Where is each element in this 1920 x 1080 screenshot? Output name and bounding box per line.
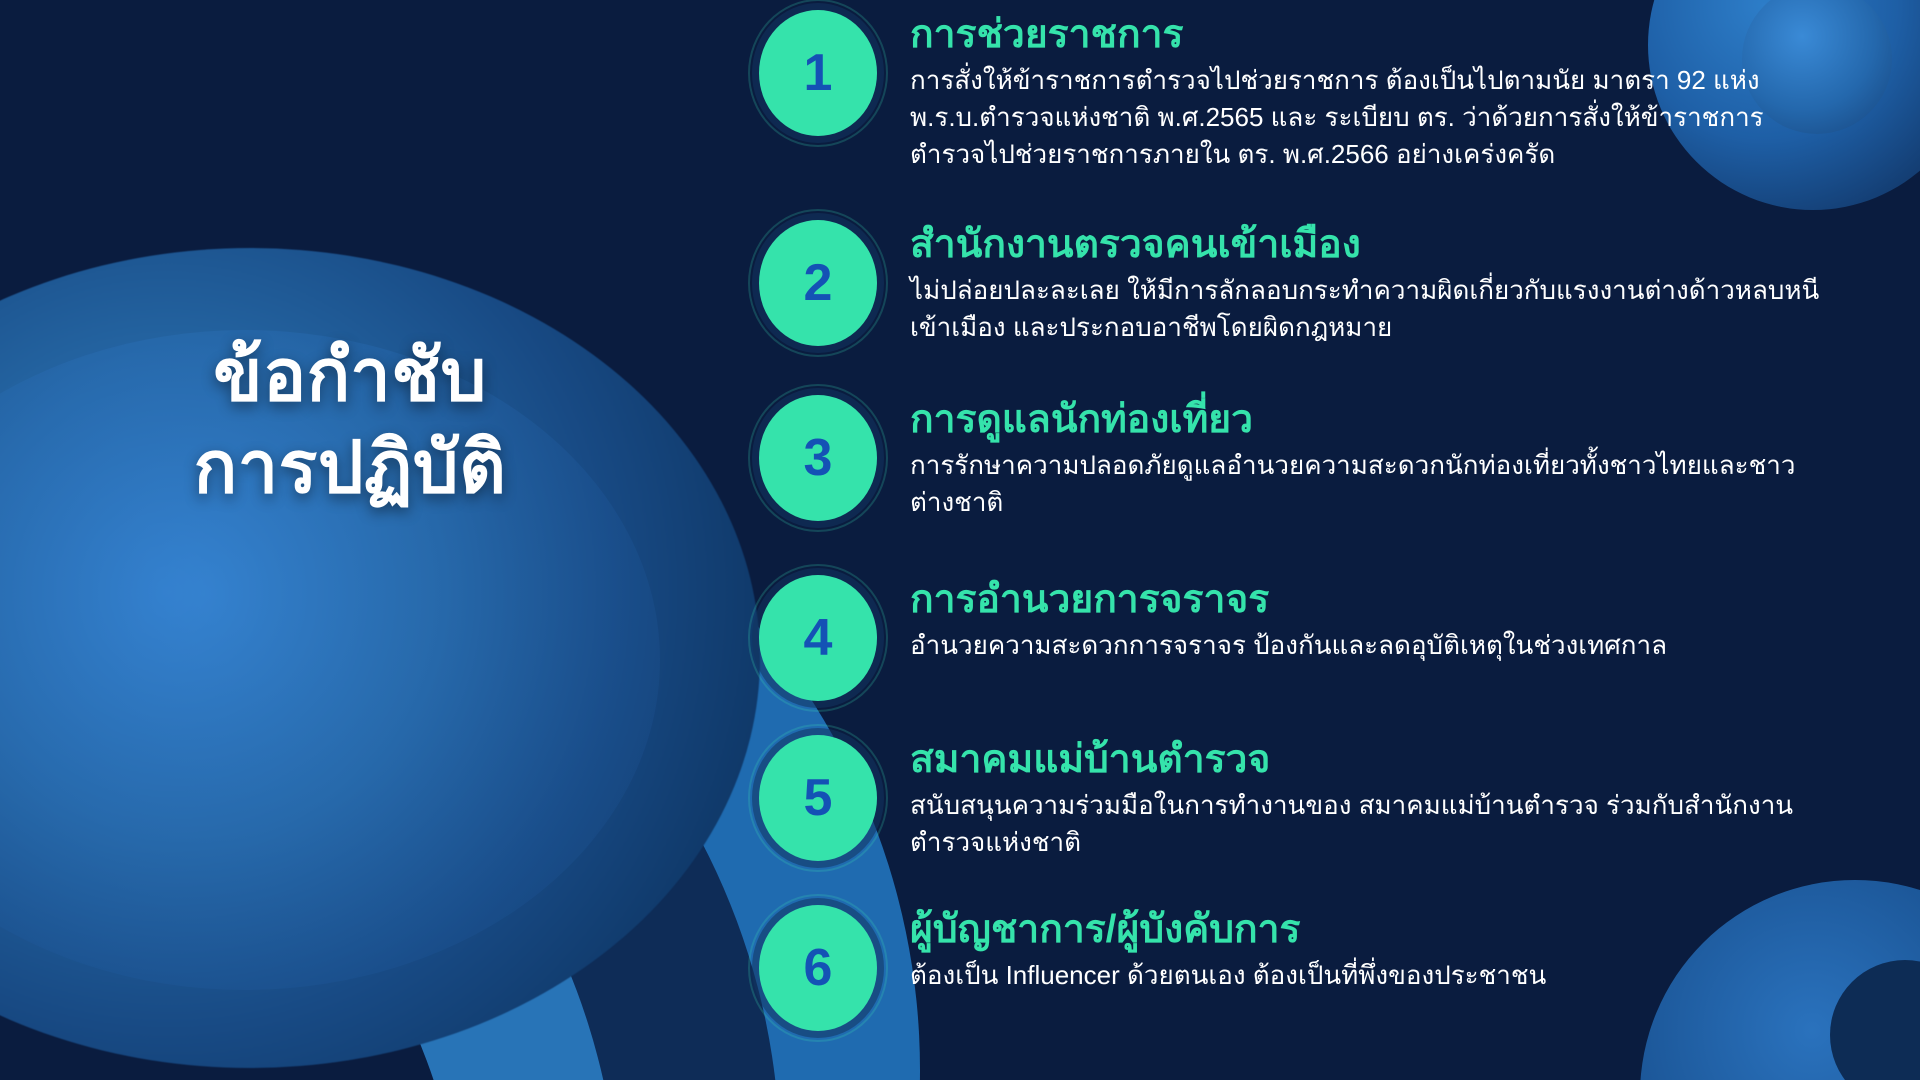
number-badge-label: 1 (804, 47, 833, 99)
list-item-heading: การช่วยราชการ (910, 12, 1908, 58)
number-badge-label: 4 (804, 612, 833, 664)
list-item-number-wrap: 2 (748, 220, 888, 346)
list-item: 1 การช่วยราชการ การสั่งให้ข้าราชการตำรวจ… (748, 10, 1908, 173)
list-item-number-wrap: 5 (748, 735, 888, 861)
slide-title-line-1: ข้อกำชับ (0, 330, 700, 422)
list-item-body: การสั่งให้ข้าราชการตำรวจไปช่วยราชการ ต้อ… (910, 62, 1835, 173)
list-item: 5 สมาคมแม่บ้านตำรวจ สนับสนุนความร่วมมือใ… (748, 735, 1908, 861)
number-badge-label: 2 (804, 257, 833, 309)
number-badge-label: 5 (804, 772, 833, 824)
list-item-body: สนับสนุนความร่วมมือในการทำงานของ สมาคมแม… (910, 787, 1835, 861)
list-item-heading: สำนักงานตรวจคนเข้าเมือง (910, 222, 1908, 268)
list-item-heading: การดูแลนักท่องเที่ยว (910, 397, 1908, 443)
list-item-text: ผู้บัญชาการ/ผู้บังคับการ ต้องเป็น Influe… (888, 905, 1908, 994)
list-item-text: การอำนวยการจราจร อำนวยความสะดวกการจราจร … (888, 575, 1908, 664)
list-item-text: การช่วยราชการ การสั่งให้ข้าราชการตำรวจไป… (888, 10, 1908, 173)
list-item: 4 การอำนวยการจราจร อำนวยความสะดวกการจราจ… (748, 575, 1908, 701)
list-item-text: สำนักงานตรวจคนเข้าเมือง ไม่ปล่อยปละละเลย… (888, 220, 1908, 346)
slide-title: ข้อกำชับ การปฏิบัติ (0, 330, 700, 514)
number-badge: 3 (759, 395, 877, 521)
list-item: 6 ผู้บัญชาการ/ผู้บังคับการ ต้องเป็น Infl… (748, 905, 1908, 1031)
list-item-text: สมาคมแม่บ้านตำรวจ สนับสนุนความร่วมมือในก… (888, 735, 1908, 861)
list-item: 2 สำนักงานตรวจคนเข้าเมือง ไม่ปล่อยปละละเ… (748, 220, 1908, 346)
list-item-body: การรักษาความปลอดภัยดูแลอำนวยความสะดวกนัก… (910, 447, 1835, 521)
number-badge: 4 (759, 575, 877, 701)
list-item-body: ต้องเป็น Influencer ด้วยตนเอง ต้องเป็นที… (910, 957, 1835, 994)
number-badge: 6 (759, 905, 877, 1031)
number-badge: 5 (759, 735, 877, 861)
list-item-heading: การอำนวยการจราจร (910, 577, 1908, 623)
list-item-text: การดูแลนักท่องเที่ยว การรักษาความปลอดภัย… (888, 395, 1908, 521)
number-badge: 2 (759, 220, 877, 346)
number-badge-label: 3 (804, 432, 833, 484)
list-item-body: ไม่ปล่อยปละละเลย ให้มีการลักลอบกระทำความ… (910, 272, 1835, 346)
number-badge-label: 6 (804, 942, 833, 994)
list-item-number-wrap: 6 (748, 905, 888, 1031)
list-item-heading: ผู้บัญชาการ/ผู้บังคับการ (910, 907, 1908, 953)
list-item-heading: สมาคมแม่บ้านตำรวจ (910, 737, 1908, 783)
slide-title-line-2: การปฏิบัติ (0, 422, 700, 514)
list-item-number-wrap: 4 (748, 575, 888, 701)
list-item-body: อำนวยความสะดวกการจราจร ป้องกันและลดอุบัต… (910, 627, 1835, 664)
list-item-number-wrap: 3 (748, 395, 888, 521)
list-item: 3 การดูแลนักท่องเที่ยว การรักษาความปลอดภ… (748, 395, 1908, 521)
number-badge: 1 (759, 10, 877, 136)
numbered-list: 1 การช่วยราชการ การสั่งให้ข้าราชการตำรวจ… (748, 10, 1908, 1070)
list-item-number-wrap: 1 (748, 10, 888, 136)
